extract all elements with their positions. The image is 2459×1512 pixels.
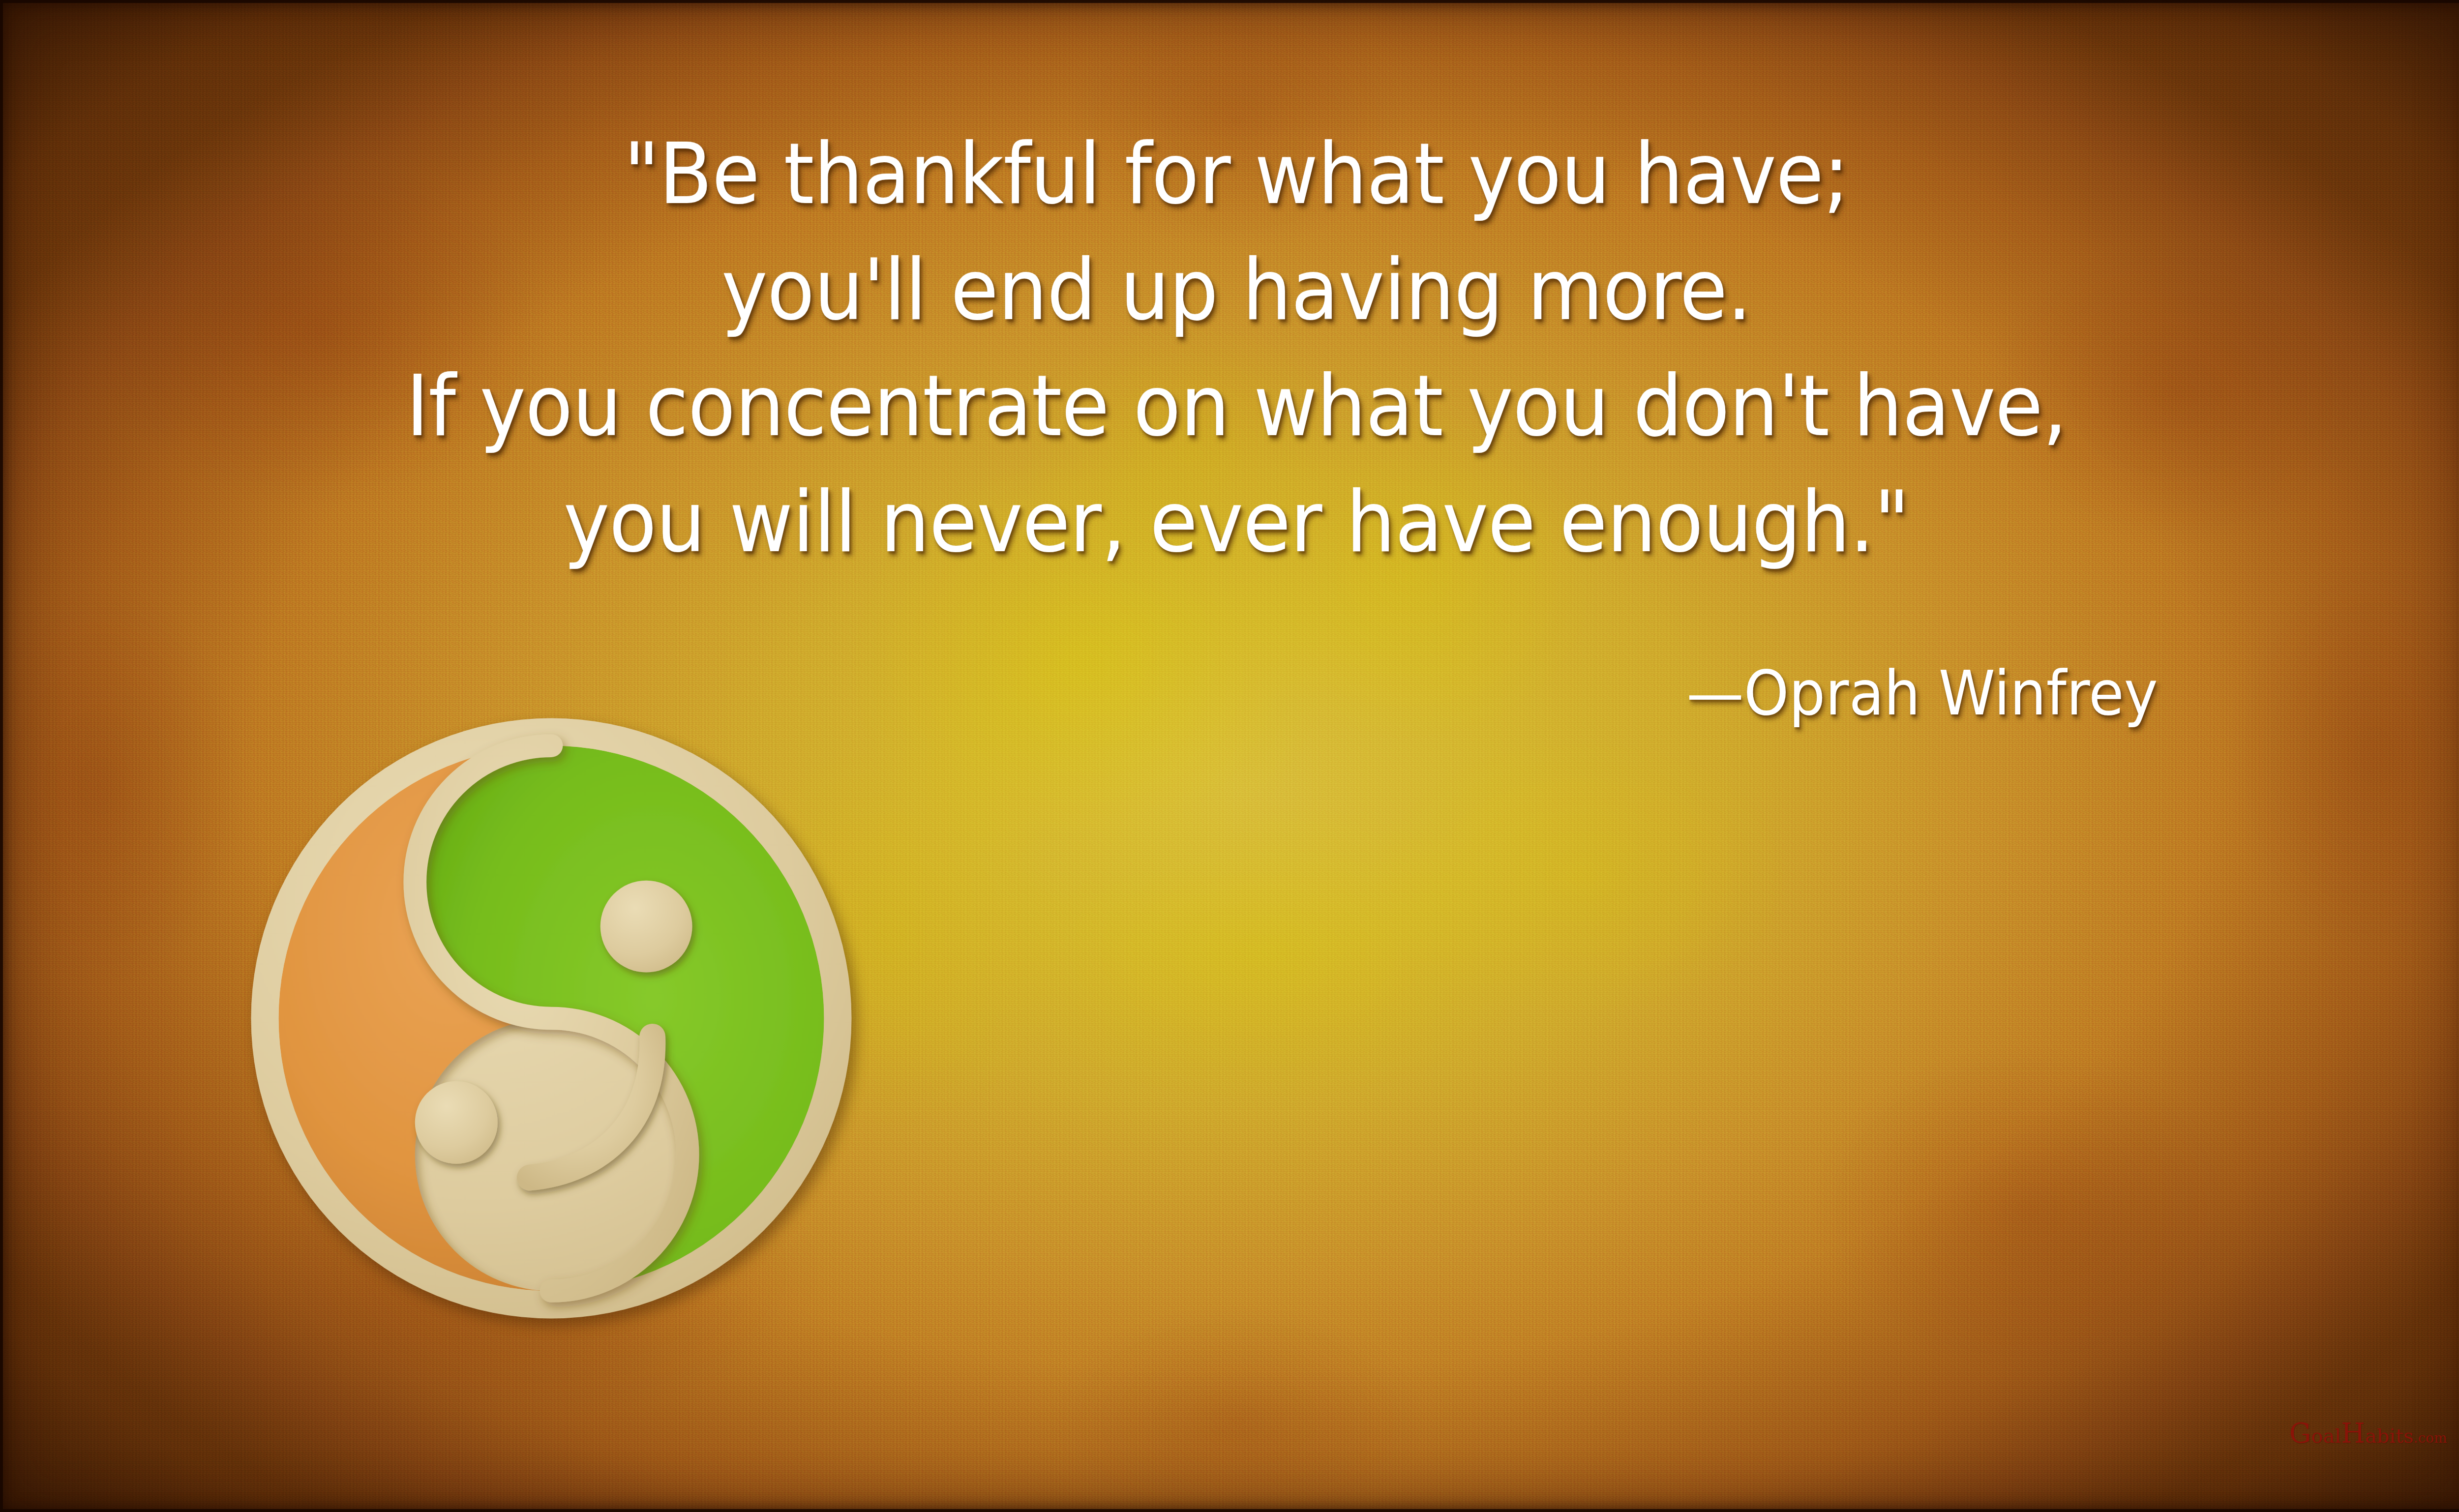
- quote-line-1: "Be thankful for what you have;: [153, 116, 2320, 232]
- quote-attribution: —Oprah Winfrey: [1686, 654, 2158, 733]
- logo-green-dot: [600, 881, 692, 973]
- quote-text-block: "Be thankful for what you have; you'll e…: [0, 116, 2459, 580]
- watermark-goalhabits[interactable]: GoalHabits.com: [2289, 1417, 2447, 1449]
- quote-line-2: you'll end up having more.: [153, 232, 2320, 348]
- wallpaper-canvas: "Be thankful for what you have; you'll e…: [0, 0, 2459, 1512]
- logo-orange-dot: [415, 1081, 498, 1164]
- quote-line-4: you will never, ever have enough.": [153, 464, 2320, 580]
- watermark-cap-g: G: [2289, 1417, 2311, 1449]
- watermark-cap-h: H: [2341, 1417, 2365, 1449]
- yin-yang-smiley-logo: [245, 712, 858, 1325]
- quote-line-3: If you concentrate on what you don't hav…: [153, 348, 2320, 464]
- watermark-abits: abits: [2365, 1424, 2414, 1447]
- watermark-oal: oal: [2311, 1424, 2341, 1447]
- watermark-tld: .com: [2414, 1430, 2447, 1446]
